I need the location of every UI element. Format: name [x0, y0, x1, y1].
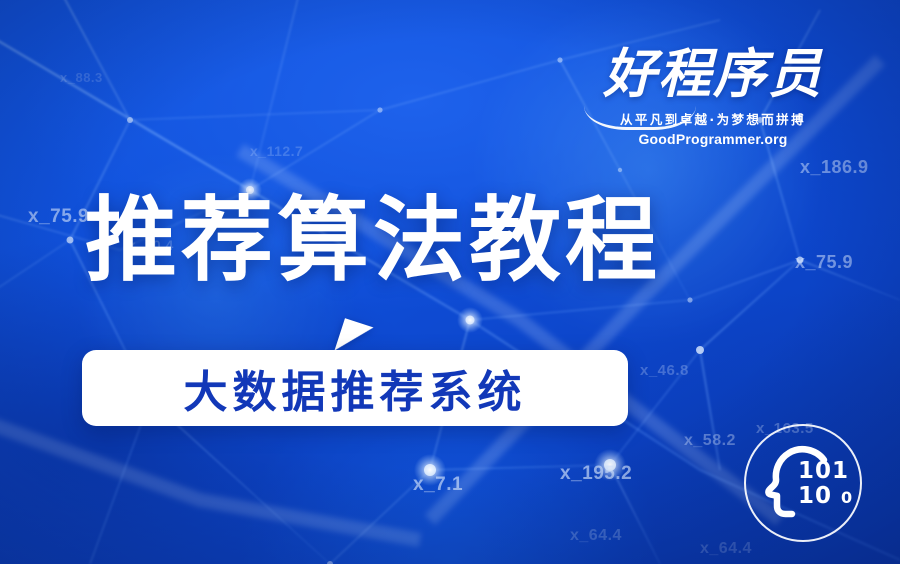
badge-bits-bottom-main: 10	[798, 483, 832, 509]
brand-logo: 好程序员 从平凡到卓越·为梦想而拼搏 GoodProgrammer.org	[578, 48, 848, 152]
badge-binary: 101 10 0	[798, 460, 853, 508]
subtitle-text: 大数据推荐系统	[184, 356, 527, 420]
brand-name-cn: 好程序员	[578, 48, 848, 101]
brand-website-suffix: Programmer.org	[676, 131, 788, 147]
badge-bits-top: 101	[798, 460, 853, 483]
brand-website-prefix: Good	[638, 131, 675, 147]
poster-canvas: x_75.9x_186.9x_75.9x_7.1x_195.2x_58.2x_1…	[0, 0, 900, 564]
badge-bits-bottom-small: 0	[841, 488, 853, 507]
status-badge: 101 10 0	[744, 424, 862, 542]
brand-website: GoodProgrammer.org	[578, 131, 848, 147]
page-title: 推荐算法教程	[85, 193, 661, 290]
badge-bits-bottom: 10 0	[798, 485, 853, 508]
subtitle-box: 大数据推荐系统	[82, 350, 628, 426]
